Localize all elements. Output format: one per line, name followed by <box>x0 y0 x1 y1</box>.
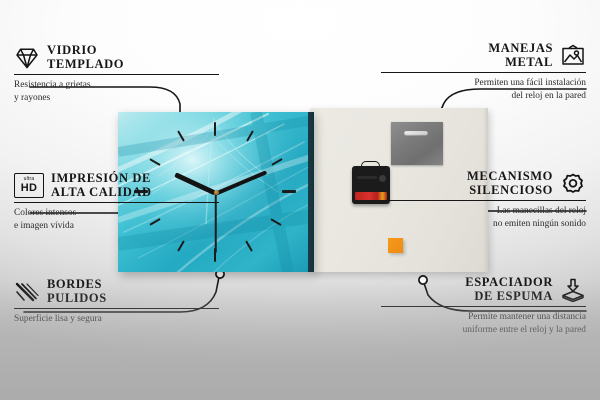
polished-edges-icon <box>14 280 40 304</box>
tick-3 <box>282 190 296 193</box>
feature-subtitle: Permite mantener una distancia uniforme … <box>381 311 586 336</box>
feature-title-line1: BORDES <box>47 278 107 292</box>
divider <box>381 72 586 73</box>
feature-title-line1: VIDRIO <box>47 44 124 58</box>
infographic-canvas: VIDRIO TEMPLADO Resistencia a grietas y … <box>0 0 600 400</box>
divider <box>381 200 586 201</box>
feature-title-line1: MANEJAS <box>488 42 553 56</box>
gear-icon <box>560 172 586 196</box>
feature-manejas-metal: MANEJAS METAL Permiten una fácil instala… <box>381 42 586 103</box>
feature-bordes-pulidos: BORDES PULIDOS Superficie lisa y segura <box>14 278 219 326</box>
foam-spacer <box>388 238 403 253</box>
feature-title-line2: PULIDOS <box>47 292 107 306</box>
divider <box>14 74 219 75</box>
divider <box>14 202 219 203</box>
feature-title-line1: MECANISMO <box>467 170 553 184</box>
foam-spacer-arrow-icon <box>560 278 586 302</box>
feature-subtitle: Resistencia a grietas y rayones <box>14 79 219 104</box>
metal-hanger-plate <box>391 122 443 165</box>
divider <box>14 308 219 309</box>
ultra-hd-icon: ultra HD <box>14 173 44 198</box>
ultra-hd-icon-main-text: HD <box>21 183 38 194</box>
feature-impresion-alta-calidad: ultra HD IMPRESIÓN DE ALTA CALIDAD Color… <box>14 172 219 233</box>
diamond-icon <box>14 46 40 70</box>
feature-subtitle: Las manecillas del reloj no emiten ningú… <box>381 205 586 230</box>
feature-title-line1: ESPACIADOR <box>465 276 553 290</box>
feature-title-line2: METAL <box>505 56 553 70</box>
picture-frame-icon <box>560 44 586 68</box>
feature-vidrio-templado: VIDRIO TEMPLADO Resistencia a grietas y … <box>14 44 219 105</box>
feature-subtitle: Permiten una fácil instalación del reloj… <box>381 77 586 102</box>
feature-espaciador-espuma: ESPACIADOR DE ESPUMA Permite mantener un… <box>381 276 586 337</box>
feature-mecanismo-silencioso: MECANISMO SILENCIOSO Las manecillas del … <box>381 170 586 231</box>
feature-title-line2: ALTA CALIDAD <box>51 186 152 200</box>
mechanism-handle <box>361 161 380 170</box>
glass-edge <box>308 112 314 272</box>
divider <box>381 306 586 307</box>
feature-subtitle: Superficie lisa y segura <box>14 313 219 326</box>
tick-12 <box>214 122 216 136</box>
mechanism-slot <box>357 176 377 179</box>
feature-title-line2: DE ESPUMA <box>474 290 553 304</box>
feature-title-line2: TEMPLADO <box>47 58 124 72</box>
feature-subtitle: Colores intensos e imagen vívida <box>14 207 219 232</box>
feature-title-line2: SILENCIOSO <box>469 184 553 198</box>
feature-title-line1: IMPRESIÓN DE <box>51 172 152 186</box>
